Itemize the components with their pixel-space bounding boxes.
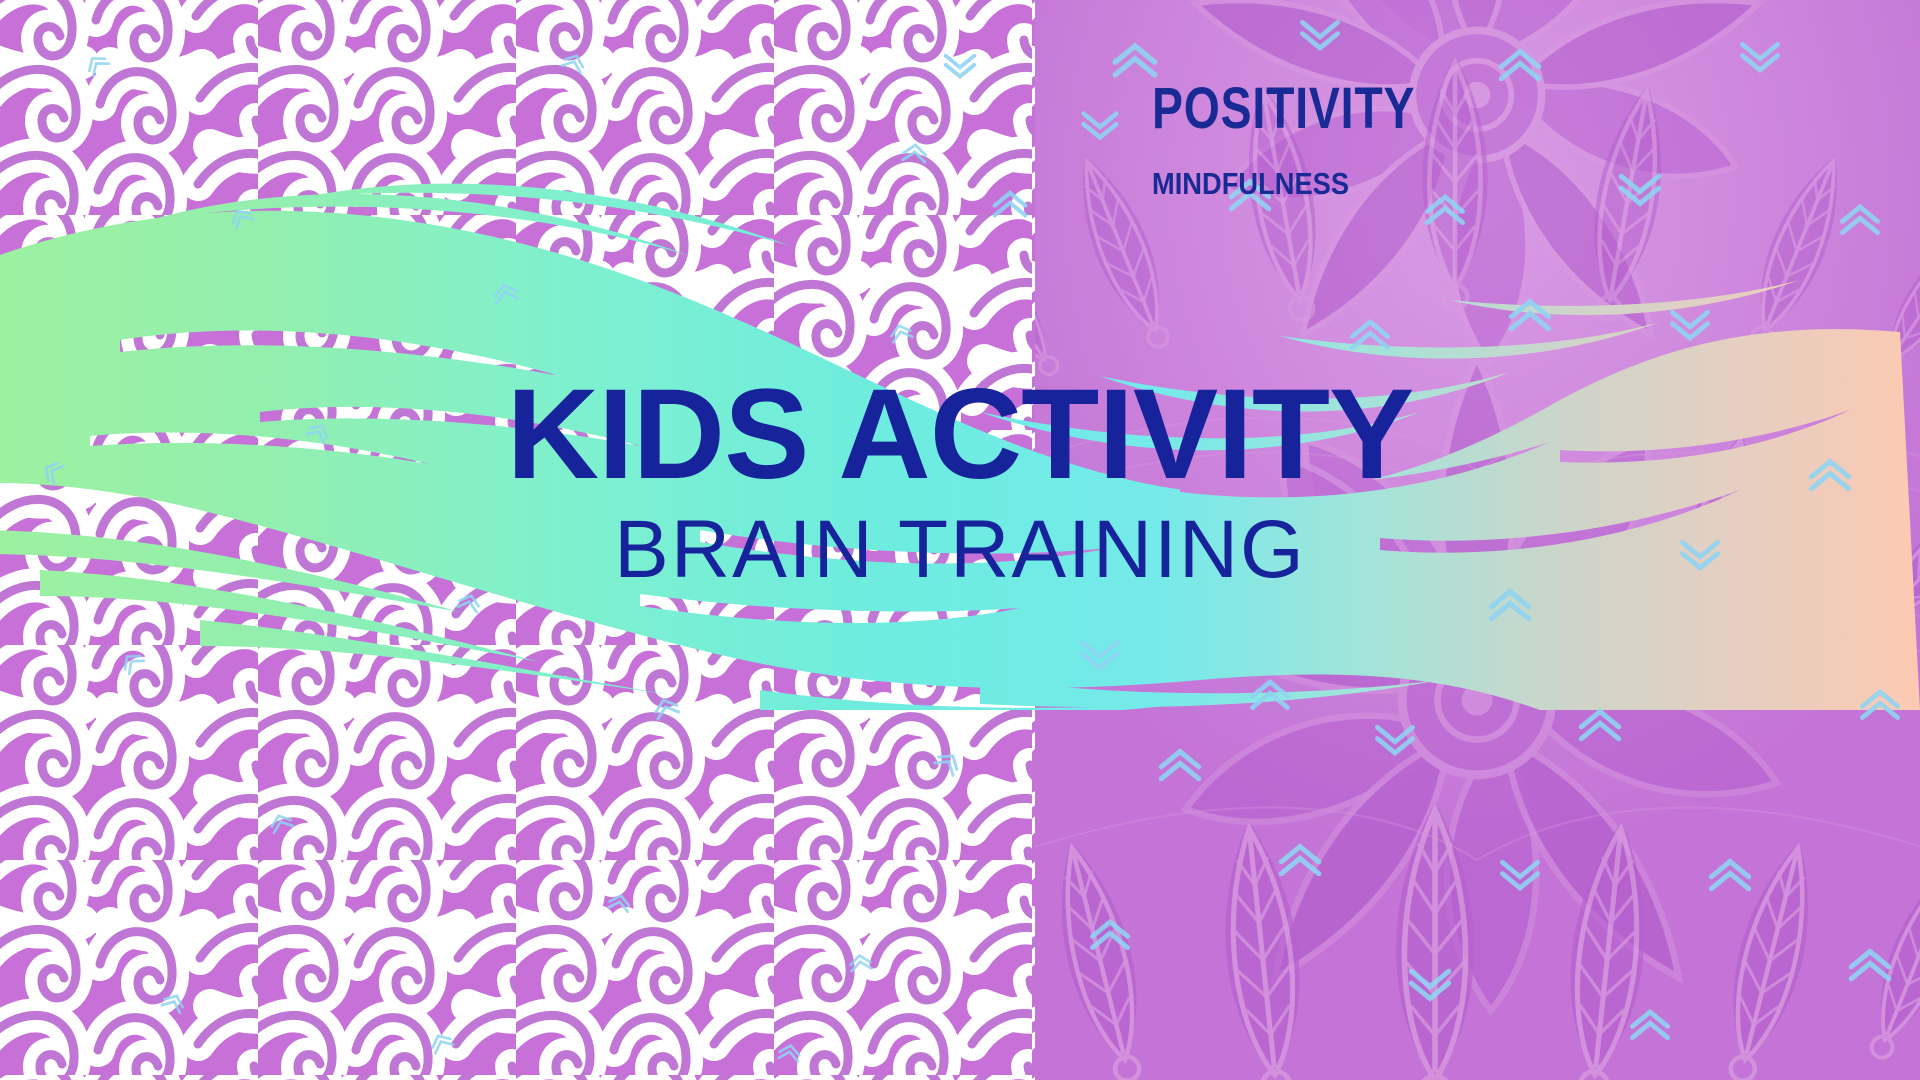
headline-block: KIDS ACTIVITY BRAIN TRAINING bbox=[0, 370, 1920, 593]
eyebrow-positivity: POSITIVITY bbox=[1152, 80, 1488, 138]
banner-canvas: POSITIVITY Mindfulness KIDS ACTIVITY BRA… bbox=[0, 0, 1920, 1080]
eyebrow-text-block: POSITIVITY Mindfulness bbox=[1152, 80, 1572, 202]
page-title: KIDS ACTIVITY bbox=[0, 370, 1920, 501]
page-subtitle: BRAIN TRAINING bbox=[0, 507, 1920, 593]
eyebrow-mindfulness: Mindfulness bbox=[1152, 158, 1522, 202]
